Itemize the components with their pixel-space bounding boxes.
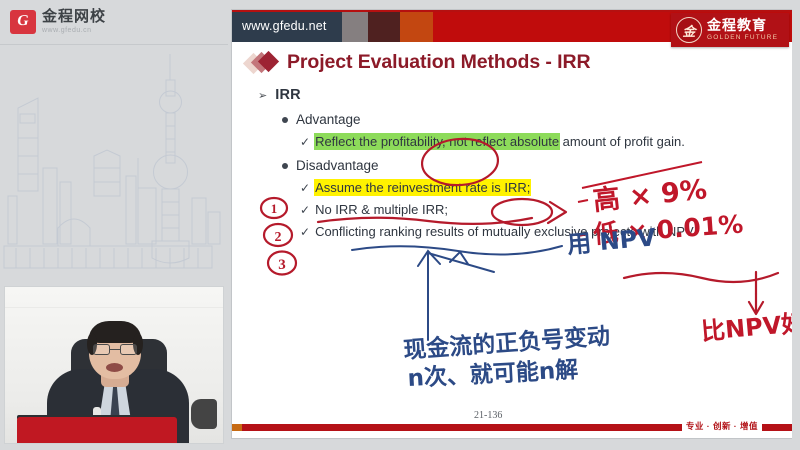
arrow-bullet-icon: ➢	[258, 89, 267, 102]
wall-line	[5, 307, 223, 308]
glasses-bridge	[110, 349, 120, 350]
green-highlight-text: Reflect the profitability, not reflect a…	[315, 134, 559, 149]
bullet-disadvantage-item-1: ✓ Assume the reinvestment rate is IRR;	[300, 180, 782, 195]
shanghai-skyline-watermark	[0, 46, 228, 284]
ink-note-line-2: n次、就可能n解	[407, 356, 579, 392]
brand-url: www.gfedu.cn	[42, 27, 106, 34]
slide-title-row: Project Evaluation Methods - IRR	[232, 42, 792, 78]
brand-name-cn: 金程网校	[42, 9, 106, 24]
bullet-disadvantage: Disadvantage	[282, 158, 782, 173]
slide-content: ➢ IRR Advantage ✓ Reflect the profitabil…	[232, 78, 792, 239]
slide-footer: 21-136 专业 · 创新 · 增值	[232, 404, 792, 438]
diamond-bullet-icon	[246, 52, 278, 74]
right-edge-gutter	[792, 0, 800, 450]
check-icon: ✓	[300, 203, 310, 217]
left-panel: G 金程网校 www.gfedu.cn	[0, 0, 228, 450]
brand-divider	[0, 44, 228, 45]
brand-logo[interactable]: G 金程网校 www.gfedu.cn	[10, 9, 106, 34]
page-title: Project Evaluation Methods - IRR	[287, 51, 590, 74]
glasses-lens-right	[120, 344, 137, 355]
glasses-icon	[93, 344, 137, 355]
banner-block-orange	[400, 10, 433, 42]
advantage-item-text: Reflect the profitability, not reflect a…	[315, 134, 685, 149]
bullet-level1-irr: ➢ IRR	[258, 87, 782, 103]
bullet-disadvantage-item-2: ✓ No IRR & multiple IRR;	[300, 202, 782, 217]
ink-number-3: 3	[278, 257, 286, 273]
bullet-level1-label: IRR	[275, 87, 301, 103]
bullet-advantage-label: Advantage	[296, 112, 361, 127]
footer-accent-orange	[232, 424, 242, 431]
footer-tagline: 专业 · 创新 · 增值	[682, 420, 762, 432]
bullet-disadvantage-item-3: ✓ Conflicting ranking results of mutuall…	[300, 224, 782, 239]
gfedu-seal-logo: 金 金程教育 GOLDEN FUTURE	[671, 13, 789, 47]
banner-block-gray	[342, 10, 368, 42]
bullet-advantage-item: ✓ Reflect the profitability, not reflect…	[300, 134, 782, 149]
disadvantage-item-3-text: Conflicting ranking results of mutually …	[315, 224, 696, 239]
banner-top-edge	[232, 10, 792, 12]
instructor-mouth	[106, 363, 123, 372]
seal-name-en: GOLDEN FUTURE	[707, 35, 778, 42]
check-icon: ✓	[300, 135, 310, 149]
bullet-advantage: Advantage	[282, 112, 782, 127]
ink-text-better-than-npv: 比NPV好	[700, 309, 792, 346]
desk	[17, 417, 177, 444]
check-icon: ✓	[300, 181, 310, 195]
dot-bullet-icon	[282, 163, 288, 169]
banner-block-maroon	[368, 10, 400, 42]
g-logo-icon: G	[10, 10, 36, 34]
banner-url: www.gfedu.net	[232, 10, 342, 42]
hand	[191, 399, 217, 429]
video-frame	[5, 287, 223, 443]
glasses-lens-left	[93, 344, 110, 355]
advantage-item-tail: amount of profit gain.	[559, 134, 685, 149]
brand-text: 金程网校 www.gfedu.cn	[42, 9, 106, 34]
page-number: 21-136	[474, 410, 502, 421]
footer-accent-cap	[766, 424, 788, 431]
slide-banner: www.gfedu.net 金 金程教育 GOLDEN FUTURE	[232, 10, 792, 42]
dot-bullet-icon	[282, 117, 288, 123]
instructor-video-feed[interactable]	[4, 286, 224, 444]
ink-note-line-1: 现金流的正负号变动	[403, 323, 611, 364]
slide-panel: www.gfedu.net 金 金程教育 GOLDEN FUTURE Proje…	[232, 10, 792, 438]
seal-name-cn: 金程教育	[707, 18, 778, 32]
screen-root: G 金程网校 www.gfedu.cn	[0, 0, 800, 450]
disadvantage-item-1-text: Assume the reinvestment rate is IRR;	[315, 180, 530, 195]
seal-badge-icon: 金	[676, 17, 702, 43]
bullet-disadvantage-label: Disadvantage	[296, 158, 379, 173]
disadvantage-item-2-text: No IRR & multiple IRR;	[315, 202, 448, 217]
check-icon: ✓	[300, 225, 310, 239]
seal-text: 金程教育 GOLDEN FUTURE	[707, 18, 778, 42]
